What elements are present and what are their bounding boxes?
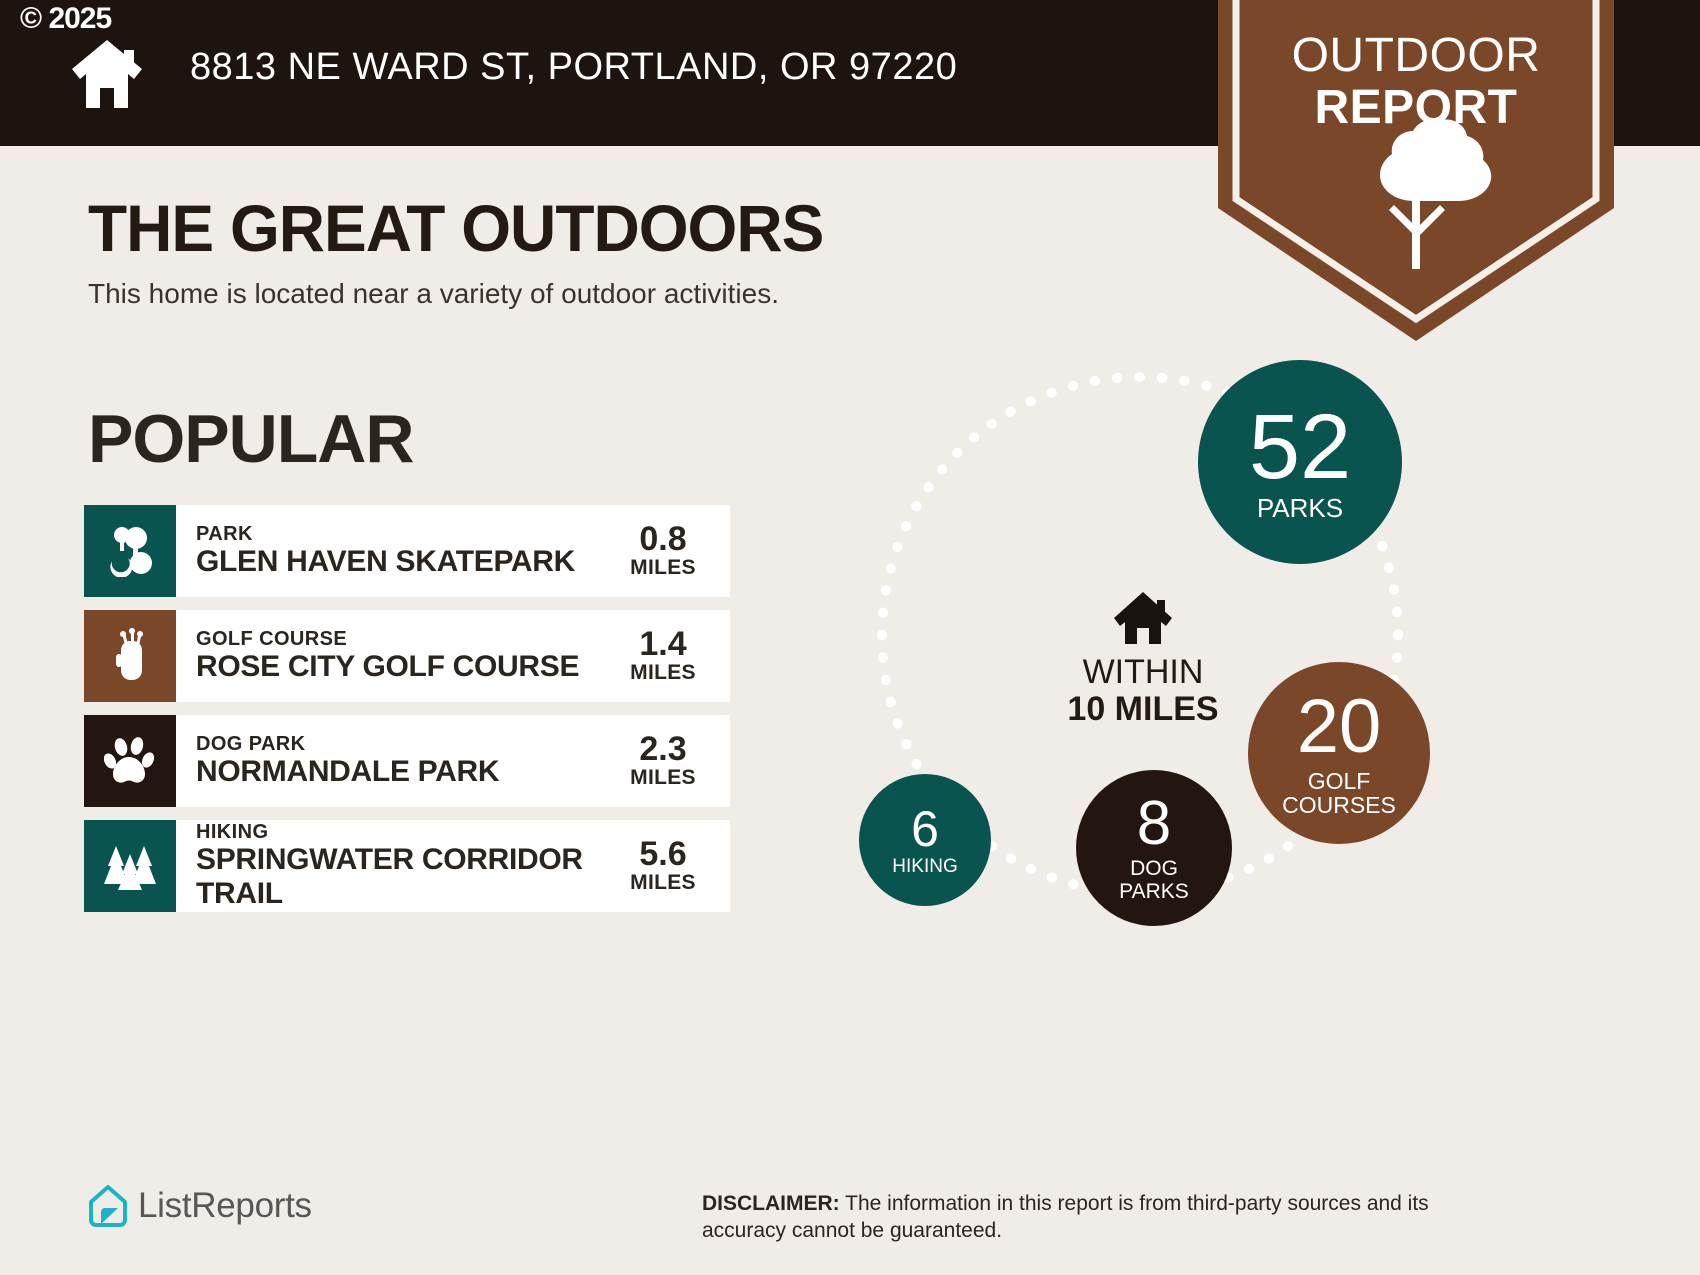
- page-subtitle: This home is located near a variety of o…: [88, 278, 779, 310]
- list-item-distance: 2.3 MILES: [608, 732, 730, 790]
- list-item-category: DOG PARK: [196, 733, 608, 755]
- chart-center-label: WITHIN 10 MILES: [1038, 590, 1248, 728]
- list-item[interactable]: DOG PARK NORMANDALE PARK 2.3 MILES: [84, 715, 730, 807]
- list-item-name: ROSE CITY GOLF COURSE: [196, 650, 608, 684]
- page-title: THE GREAT OUTDOORS: [88, 190, 823, 266]
- stat-bubble-parks[interactable]: 52 PARKS: [1198, 360, 1402, 564]
- list-item-name: SPRINGWATER CORRIDOR TRAIL: [196, 843, 608, 911]
- stat-label-line2: PARKS: [1119, 881, 1189, 903]
- stat-bubble-hiking[interactable]: 6 HIKING: [859, 774, 991, 906]
- home-icon: [68, 38, 146, 110]
- outdoor-report-badge: OUTDOOR REPORT: [1218, 0, 1614, 341]
- listreports-house-icon: [88, 1184, 128, 1228]
- popular-list: PARK GLEN HAVEN SKATEPARK 0.8 MILES GOLF…: [84, 505, 730, 925]
- list-item-category: GOLF COURSE: [196, 628, 608, 650]
- stat-label-line2: COURSES: [1282, 793, 1396, 817]
- stat-bubble-golf-courses[interactable]: 20 GOLF COURSES: [1248, 662, 1430, 844]
- distance-unit: MILES: [630, 661, 696, 685]
- list-item-name: NORMANDALE PARK: [196, 755, 608, 789]
- property-address: 8813 NE WARD ST, PORTLAND, OR 97220: [190, 46, 957, 89]
- distance-value: 1.4: [639, 627, 686, 661]
- list-item-distance: 5.6 MILES: [608, 837, 730, 895]
- list-item-distance: 0.8 MILES: [608, 522, 730, 580]
- listreports-wordmark: ListReports: [138, 1186, 312, 1226]
- badge-title: OUTDOOR REPORT: [1218, 30, 1614, 134]
- stat-label: PARKS: [1257, 495, 1343, 522]
- center-label-line1: WITHIN: [1038, 654, 1248, 690]
- list-item-category: PARK: [196, 523, 608, 545]
- home-icon: [1038, 590, 1248, 646]
- stat-label: HIKING: [892, 857, 957, 877]
- listreports-logo[interactable]: ListReports: [88, 1184, 312, 1228]
- pine-trees-icon: [84, 820, 176, 912]
- badge-title-line1: OUTDOOR: [1292, 29, 1541, 82]
- popular-heading: POPULAR: [88, 400, 413, 478]
- stat-value: 8: [1137, 793, 1171, 855]
- list-item[interactable]: HIKING SPRINGWATER CORRIDOR TRAIL 5.6 MI…: [84, 820, 730, 912]
- stat-label-line1: DOG: [1130, 858, 1178, 880]
- distance-value: 2.3: [639, 732, 686, 766]
- stat-value: 20: [1297, 689, 1382, 765]
- list-item[interactable]: PARK GLEN HAVEN SKATEPARK 0.8 MILES: [84, 505, 730, 597]
- disclaimer: DISCLAIMER: The information in this repo…: [702, 1190, 1502, 1244]
- distance-unit: MILES: [630, 871, 696, 895]
- list-item[interactable]: GOLF COURSE ROSE CITY GOLF COURSE 1.4 MI…: [84, 610, 730, 702]
- distance-value: 0.8: [639, 522, 686, 556]
- paw-print-icon: [84, 715, 176, 807]
- distance-unit: MILES: [630, 766, 696, 790]
- stat-value: 52: [1249, 401, 1351, 493]
- center-label-line2: 10 MILES: [1038, 690, 1248, 728]
- golf-bag-icon: [84, 610, 176, 702]
- stat-label-line1: GOLF: [1308, 769, 1371, 793]
- copyright-notice: © 2025: [20, 2, 111, 36]
- badge-title-line2: REPORT: [1218, 82, 1614, 134]
- list-item-category: HIKING: [196, 821, 608, 843]
- list-item-distance: 1.4 MILES: [608, 627, 730, 685]
- within-10-miles-chart: 52 PARKS 20 GOLF COURSES 8 DOG PARKS 6 H…: [820, 350, 1500, 1010]
- park-trees-icon: [84, 505, 176, 597]
- list-item-name: GLEN HAVEN SKATEPARK: [196, 545, 608, 579]
- stat-value: 6: [911, 804, 939, 854]
- stat-bubble-dog-parks[interactable]: 8 DOG PARKS: [1076, 770, 1232, 926]
- distance-unit: MILES: [630, 556, 696, 580]
- disclaimer-label: DISCLAIMER:: [702, 1192, 840, 1215]
- distance-value: 5.6: [639, 837, 686, 871]
